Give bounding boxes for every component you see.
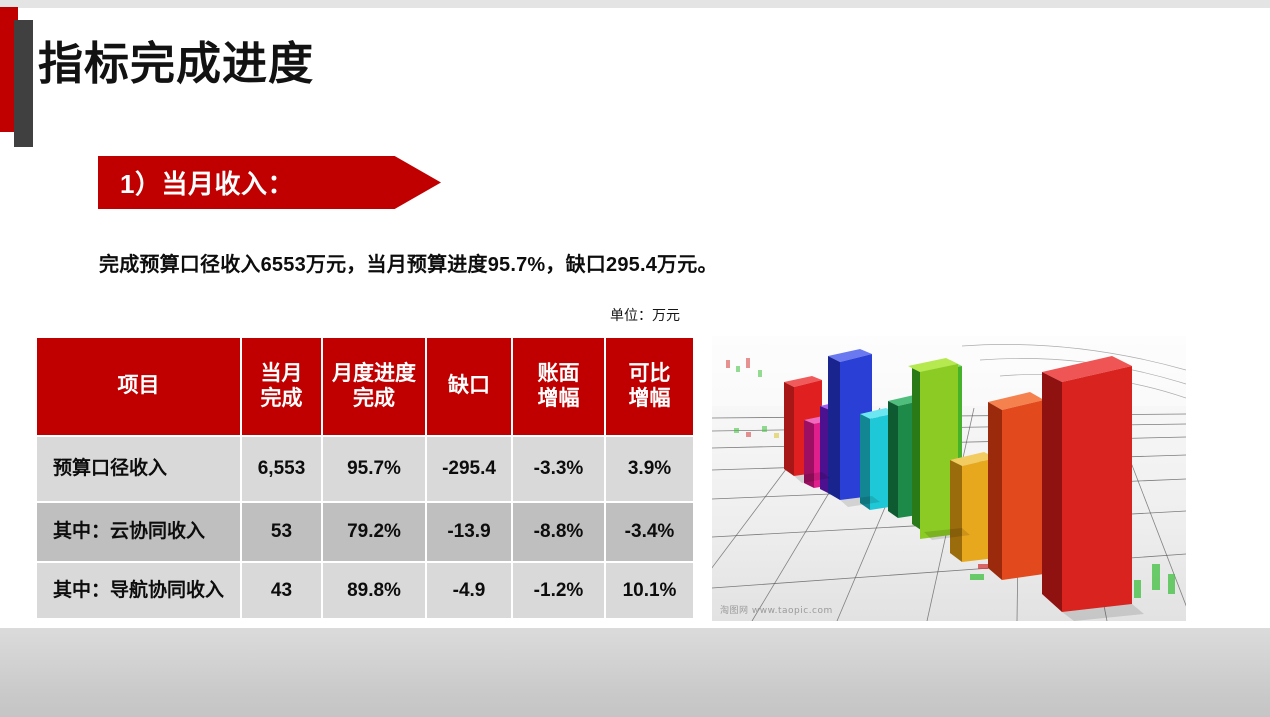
unit-label: 单位：万元 <box>610 305 680 325</box>
cell-book-growth: -8.8% <box>513 503 604 561</box>
cell-book-growth: -1.2% <box>513 563 604 618</box>
col-header-comparable-growth-line2: 增幅 <box>606 387 693 411</box>
bar-10 <box>988 392 1044 580</box>
col-header-book-growth-line1: 账面 <box>513 362 604 386</box>
cell-monthly-progress: 79.2% <box>323 503 425 561</box>
top-divider-strip <box>0 0 1270 8</box>
table-row: 预算口径收入 6,553 95.7% -295.4 -3.3% 3.9% <box>37 437 693 501</box>
table-header: 项目 当月 完成 月度进度 完成 缺口 账面 增幅 可比 <box>37 338 693 435</box>
summary-sentence: 完成预算口径收入6553万元，当月预算进度95.7%，缺口295.4万元。 <box>99 248 718 277</box>
col-header-item-line1: 项目 <box>37 374 240 398</box>
col-header-monthly-progress: 月度进度 完成 <box>323 338 425 435</box>
col-header-gap-line1: 缺口 <box>427 374 511 398</box>
section-banner: 1）当月收入： <box>98 156 441 209</box>
cell-monthly-progress: 95.7% <box>323 437 425 501</box>
cell-current-month: 43 <box>242 563 321 618</box>
decorative-3d-bar-chart-image: 淘图网 www.taopic.com <box>712 336 1186 621</box>
table-header-row: 项目 当月 完成 月度进度 完成 缺口 账面 增幅 可比 <box>37 338 693 435</box>
row-label: 其中：导航协同收入 <box>37 563 240 618</box>
accent-bar-gray <box>14 20 33 147</box>
col-header-comparable-growth-line1: 可比 <box>606 362 693 386</box>
cell-monthly-progress: 89.8% <box>323 563 425 618</box>
metrics-table: 项目 当月 完成 月度进度 完成 缺口 账面 增幅 可比 <box>35 336 695 620</box>
col-header-current-month: 当月 完成 <box>242 338 321 435</box>
bar-11 <box>1042 356 1132 612</box>
image-watermark: 淘图网 www.taopic.com <box>720 603 833 616</box>
col-header-monthly-progress-line2: 完成 <box>323 387 425 411</box>
col-header-book-growth: 账面 增幅 <box>513 338 604 435</box>
table-body: 预算口径收入 6,553 95.7% -295.4 -3.3% 3.9% 其中：… <box>37 437 693 618</box>
col-header-item: 项目 <box>37 338 240 435</box>
table-row: 其中：云协同收入 53 79.2% -13.9 -8.8% -3.4% <box>37 503 693 561</box>
row-label: 预算口径收入 <box>37 437 240 501</box>
slide-root: 指标完成进度 1）当月收入： 完成预算口径收入6553万元，当月预算进度95.7… <box>0 0 1270 717</box>
col-header-monthly-progress-line1: 月度进度 <box>323 362 425 386</box>
col-header-comparable-growth: 可比 增幅 <box>606 338 693 435</box>
page-title: 指标完成进度 <box>38 38 314 90</box>
col-header-book-growth-line2: 增幅 <box>513 387 604 411</box>
cell-comparable-growth: -3.4% <box>606 503 693 561</box>
cell-comparable-growth: 3.9% <box>606 437 693 501</box>
cell-book-growth: -3.3% <box>513 437 604 501</box>
cell-gap: -13.9 <box>427 503 511 561</box>
cell-gap: -295.4 <box>427 437 511 501</box>
cell-comparable-growth: 10.1% <box>606 563 693 618</box>
3d-bar-chart-illustration <box>712 336 1186 621</box>
bottom-gradient-band <box>0 628 1270 717</box>
cell-current-month: 6,553 <box>242 437 321 501</box>
col-header-gap: 缺口 <box>427 338 511 435</box>
table-row: 其中：导航协同收入 43 89.8% -4.9 -1.2% 10.1% <box>37 563 693 618</box>
col-header-current-month-line2: 完成 <box>242 387 321 411</box>
cell-current-month: 53 <box>242 503 321 561</box>
row-label: 其中：云协同收入 <box>37 503 240 561</box>
banner-label: 1）当月收入： <box>120 156 294 209</box>
col-header-current-month-line1: 当月 <box>242 362 321 386</box>
cell-gap: -4.9 <box>427 563 511 618</box>
